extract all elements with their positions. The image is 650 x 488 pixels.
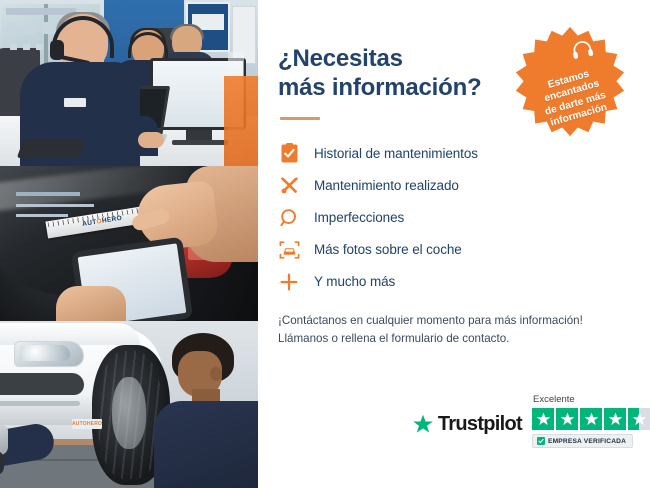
star-half bbox=[628, 408, 650, 430]
chrome-trim bbox=[0, 401, 80, 406]
car-grille bbox=[0, 373, 84, 395]
list-item: Mantenimiento realizado bbox=[278, 170, 650, 202]
list-item-label: Mantenimiento realizado bbox=[314, 178, 459, 193]
call-center-agents-photo bbox=[0, 0, 258, 166]
star-filled bbox=[580, 408, 602, 430]
list-item: Más fotos sobre el coche bbox=[278, 234, 650, 266]
magnifier-icon bbox=[278, 207, 300, 229]
list-item: Y mucho más bbox=[278, 266, 650, 298]
contact-line-1: ¡Contáctanos en cualquier momento para m… bbox=[278, 314, 583, 327]
list-item-label: Imperfecciones bbox=[314, 210, 404, 225]
promo-badge: Estamos encantados de darte más informac… bbox=[512, 25, 628, 141]
monitor-base bbox=[172, 140, 228, 145]
headline-line-2: más información? bbox=[278, 74, 482, 101]
feature-list: Historial de mantenimientos Mantenimient… bbox=[278, 138, 650, 298]
mechanic bbox=[148, 327, 258, 488]
status-badge: EMPRESA VERIFICADA bbox=[532, 434, 633, 448]
name-badge bbox=[64, 98, 86, 107]
inspector-hand-holding-tablet bbox=[56, 286, 126, 321]
verified-check-icon bbox=[537, 437, 545, 445]
mechanic-uniform bbox=[154, 401, 258, 488]
tablet-screen-row bbox=[16, 204, 94, 207]
document-check-icon bbox=[278, 143, 300, 165]
title-divider bbox=[280, 117, 320, 120]
tablet-screen-row bbox=[16, 214, 68, 217]
star-rating bbox=[532, 408, 650, 430]
orange-accent-panel bbox=[224, 76, 258, 166]
page-title: ¿Necesitas más información? bbox=[278, 44, 528, 103]
wheel-rim bbox=[112, 377, 146, 449]
desk-tablet bbox=[17, 140, 86, 158]
content-panel: ¿Necesitas más información? Historial de… bbox=[258, 0, 650, 488]
trustpilot-rating[interactable]: Trustpilot Excelente bbox=[412, 394, 650, 448]
star-filled bbox=[604, 408, 626, 430]
star-filled bbox=[556, 408, 578, 430]
trustpilot-score-block: Excelente bbox=[532, 394, 650, 448]
tablet-screen-row bbox=[16, 192, 80, 196]
contact-text: ¡Contáctanos en cualquier momento para m… bbox=[278, 312, 638, 350]
contact-line-2: Llámanos o rellena el formulario de cont… bbox=[278, 332, 509, 345]
car-camera-icon bbox=[278, 239, 300, 261]
headlight-lens bbox=[20, 345, 70, 361]
list-item-label: Y mucho más bbox=[314, 274, 395, 289]
badge-text: Estamos encantados de darte más informac… bbox=[537, 66, 611, 131]
mechanic-ear bbox=[210, 367, 222, 381]
list-item-label: Historial de mantenimientos bbox=[314, 146, 478, 161]
agent-hand bbox=[138, 132, 164, 148]
plus-icon bbox=[278, 271, 300, 293]
trustpilot-wordmark: Trustpilot bbox=[438, 413, 522, 436]
star-filled bbox=[532, 408, 554, 430]
list-item-label: Más fotos sobre el coche bbox=[314, 242, 462, 257]
mechanic-glove bbox=[0, 425, 8, 455]
headline-line-1: ¿Necesitas bbox=[278, 45, 403, 72]
tools-icon bbox=[278, 175, 300, 197]
list-item: Imperfecciones bbox=[278, 202, 650, 234]
rating-label: Excelente bbox=[533, 394, 575, 405]
trustpilot-logo: Trustpilot bbox=[412, 413, 522, 448]
list-item: Historial de mantenimientos bbox=[278, 138, 650, 170]
uniform-logo: AUTOHERO bbox=[72, 419, 102, 429]
mechanic-wheel-check-photo: AUTOHERO bbox=[0, 321, 258, 488]
information-banner: AUTOHERO bbox=[0, 0, 650, 488]
car-inspection-ruler-tablet-photo: AUTOHERO bbox=[0, 166, 258, 321]
trustpilot-star-icon bbox=[412, 414, 434, 435]
photo-column: AUTOHERO bbox=[0, 0, 258, 488]
verified-label: EMPRESA VERIFICADA bbox=[548, 438, 626, 445]
